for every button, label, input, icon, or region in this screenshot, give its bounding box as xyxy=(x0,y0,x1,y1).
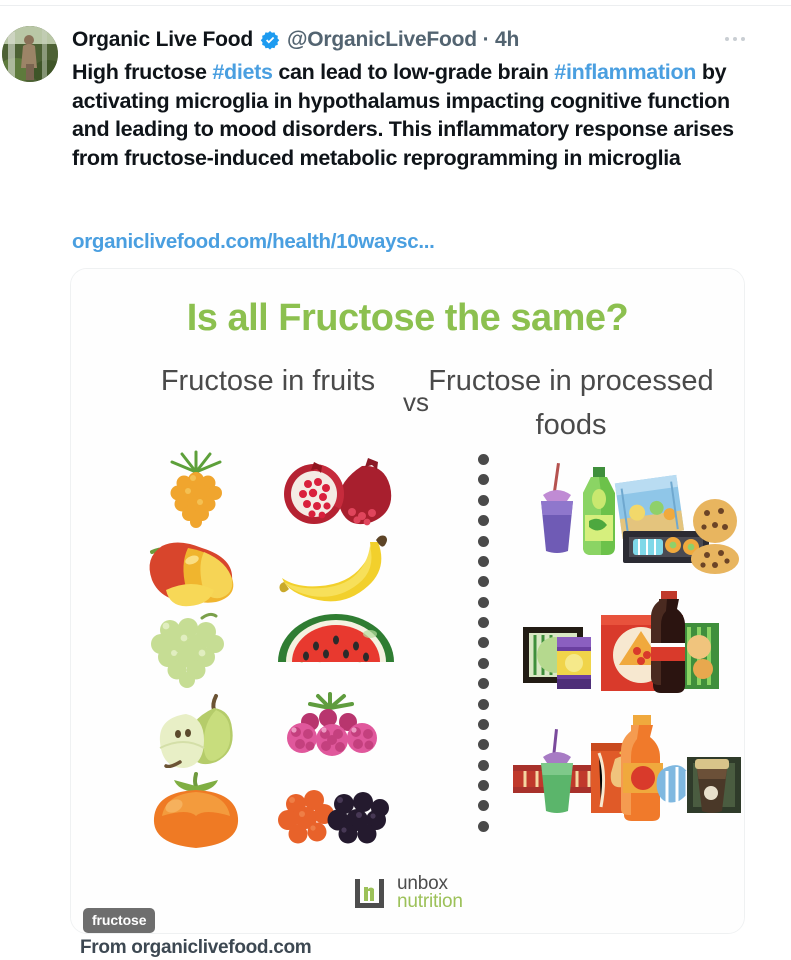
divider-dot xyxy=(478,474,489,485)
footer-source: From organiclivefood.com xyxy=(80,937,311,959)
divider-dot xyxy=(478,556,489,567)
infographic-title: Is all Fructose the same? xyxy=(71,297,744,340)
tweet-header: Organic Live Food @OrganicLiveFood · 4h xyxy=(72,28,519,52)
divider-dot xyxy=(478,760,489,771)
top-divider xyxy=(0,5,791,6)
infographic: Is all Fructose the same? Fructose in fr… xyxy=(71,269,744,933)
divider-dot xyxy=(478,597,489,608)
more-options-icon[interactable] xyxy=(721,33,749,45)
divider-dot xyxy=(478,495,489,506)
tweet-screenshot: Organic Live Food @OrganicLiveFood · 4h … xyxy=(0,0,791,960)
raspberries-icon xyxy=(270,690,402,768)
divider-dot xyxy=(478,617,489,628)
pineapple-cluster-icon xyxy=(130,450,262,528)
divider-dot xyxy=(478,821,489,832)
divider-dot xyxy=(478,536,489,547)
pomegranate-icon xyxy=(270,450,402,528)
persimmon-icon xyxy=(130,770,262,848)
tweet-link[interactable]: organiclivefood.com/health/10waysc... xyxy=(72,230,435,254)
right-column-label: Fructose in processed foods xyxy=(411,359,731,447)
avatar[interactable] xyxy=(2,26,58,82)
watermelon-slice-icon xyxy=(270,610,402,688)
hashtag-link[interactable]: #diets xyxy=(212,60,272,84)
divider-dot xyxy=(478,576,489,587)
smoothie-bottle-cookies-group-icon xyxy=(519,459,745,577)
pear-icon xyxy=(130,690,262,768)
tweet-text-segment: can lead to low-grade brain xyxy=(273,60,555,84)
divider-dot xyxy=(478,800,489,811)
verified-badge-icon xyxy=(260,30,280,50)
left-column-label: Fructose in fruits xyxy=(133,359,403,403)
tweet-text-segment: High fructose xyxy=(72,60,212,84)
green-grapes-icon xyxy=(130,610,262,688)
display-name[interactable]: Organic Live Food xyxy=(72,28,253,52)
hashtag-link[interactable]: #inflammation xyxy=(554,60,696,84)
pizza-cola-snacks-group-icon xyxy=(513,589,745,697)
divider-dot xyxy=(478,739,489,750)
status-badge[interactable]: fructose xyxy=(83,908,155,933)
divider-dot xyxy=(478,719,489,730)
dotted-divider xyxy=(476,454,490,832)
handle-and-timestamp[interactable]: @OrganicLiveFood · 4h xyxy=(287,28,519,52)
mango-icon xyxy=(130,530,262,608)
divider-dot xyxy=(478,515,489,526)
brand-text: unbox nutrition xyxy=(397,875,463,911)
brand-name-bottom: nutrition xyxy=(397,893,463,911)
tweet-text: High fructose #diets can lead to low-gra… xyxy=(72,58,754,172)
divider-dot xyxy=(478,699,489,710)
brand-logo: unbox nutrition xyxy=(353,875,463,911)
divider-dot xyxy=(478,658,489,669)
unbox-nutrition-logo-icon xyxy=(353,877,386,910)
media-card[interactable]: Is all Fructose the same? Fructose in fr… xyxy=(70,268,745,934)
divider-dot xyxy=(478,454,489,465)
fruits-grid xyxy=(126,449,406,849)
juice-coffee-snacks-group-icon xyxy=(511,709,743,821)
cherries-icon xyxy=(270,770,402,848)
banana-icon xyxy=(270,530,402,608)
divider-dot xyxy=(478,637,489,648)
divider-dot xyxy=(478,780,489,791)
divider-dot xyxy=(478,678,489,689)
